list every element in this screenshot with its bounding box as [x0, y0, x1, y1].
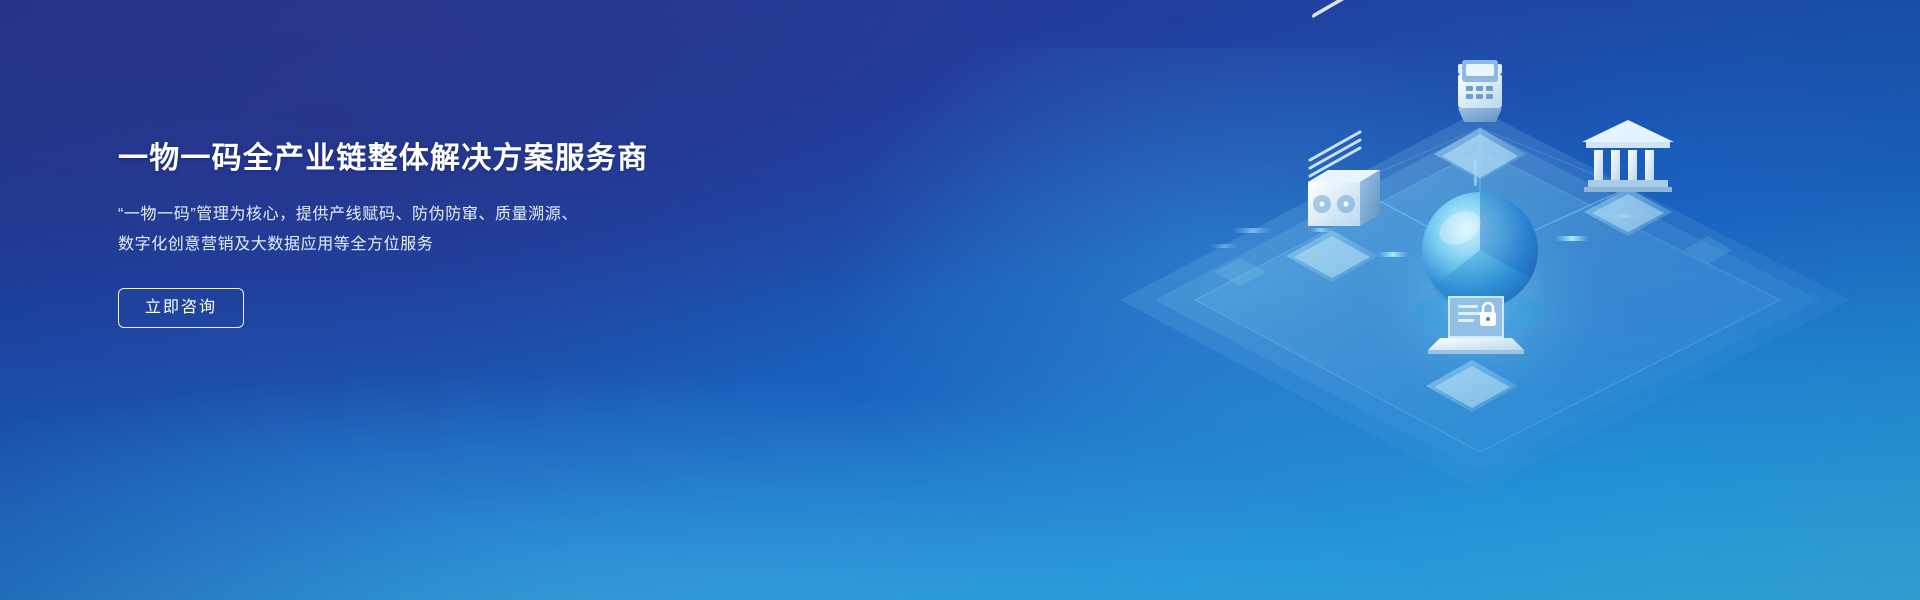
subtitle-line-2: 数字化创意营销及大数据应用等全方位服务 — [118, 230, 738, 260]
hero-subtitle: “一物一码”管理为核心，提供产线赋码、防伪防窜、质量溯源、 数字化创意营销及大数… — [118, 200, 738, 260]
consult-now-button[interactable]: 立即咨询 — [118, 288, 244, 328]
hero-copy: 一物一码全产业链整体解决方案服务商 “一物一码”管理为核心，提供产线赋码、防伪防… — [118, 140, 738, 328]
hero-illustration — [1060, 0, 1920, 600]
subtitle-line-1: “一物一码”管理为核心，提供产线赋码、防伪防窜、质量溯源、 — [118, 200, 738, 230]
hero-banner: 一物一码全产业链整体解决方案服务商 “一物一码”管理为核心，提供产线赋码、防伪防… — [0, 0, 1920, 600]
page-title: 一物一码全产业链整体解决方案服务商 — [118, 140, 738, 178]
